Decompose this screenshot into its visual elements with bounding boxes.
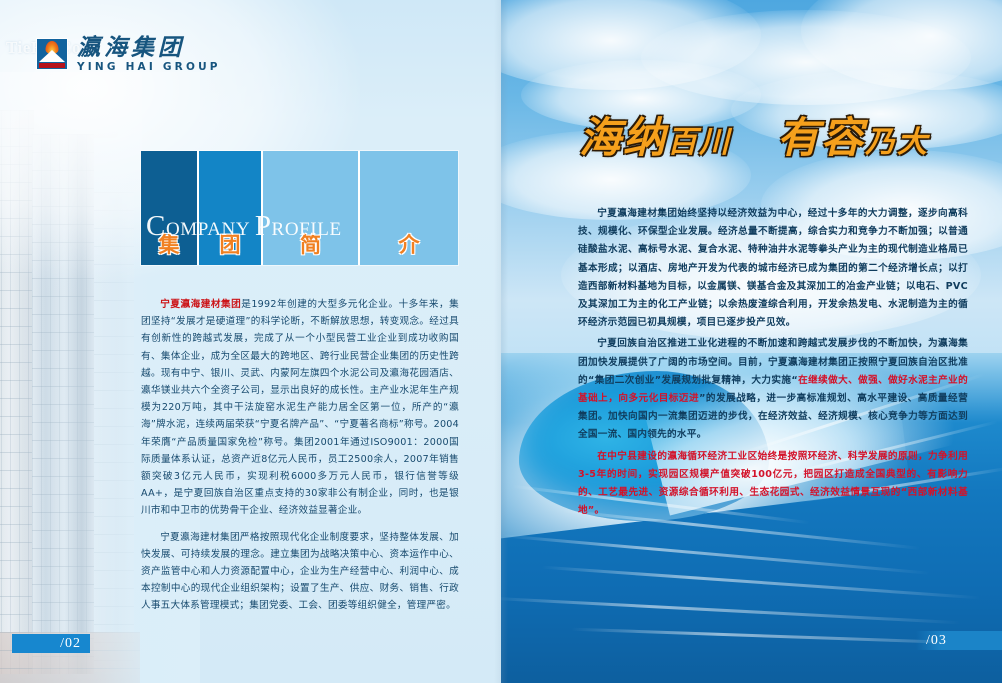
headline-part1-small: 百川 xyxy=(667,117,731,161)
banner-cell-3-label: 简 xyxy=(300,229,321,259)
right-paragraph-1-text: 宁夏瀛海建材集团始终坚持以经济效益为中心，经过十多年的大力调整，逐步向高科技、规… xyxy=(578,208,968,328)
brand-name-en: YING HAI GROUP xyxy=(77,62,221,73)
left-paragraph-1-text: 是1992年创建的大型多元化企业。十多年来，集团坚持“发展才是硬道理”的科学论断… xyxy=(141,299,459,516)
banner-cell-3: 简 xyxy=(263,151,360,265)
left-paragraph-1: 宁夏瀛海建材集团是1992年创建的大型多元化企业。十多年来，集团坚持“发展才是硬… xyxy=(141,296,459,520)
building-mullions xyxy=(0,110,34,674)
right-paragraph-2: 宁夏回族自治区推进工业化进程的不断加速和跨越式发展步伐的不断加快，为瀛海集团加快… xyxy=(578,335,968,444)
building-mullions xyxy=(32,134,94,674)
right-paragraph-3-text: 在中宁县建设的瀛海循环经济工业区始终是按照环经济、科学发展的原则，力争利用3-5… xyxy=(578,451,968,517)
building-main-tower xyxy=(32,134,94,674)
brand-logo: 瀛海集团 YING HAI GROUP xyxy=(36,36,221,73)
company-profile-banner: 集 团 简 介 xyxy=(141,151,458,265)
right-paragraph-1: 宁夏瀛海建材集团始终坚持以经济效益为中心，经过十多年的大力调整，逐步向高科技、规… xyxy=(578,205,968,332)
wave-streak xyxy=(502,534,931,574)
company-name-highlight: 宁夏瀛海建材集团 xyxy=(160,299,241,310)
banner-cell-4: 介 xyxy=(360,151,458,265)
building-right-wing xyxy=(94,192,134,672)
wave-streak xyxy=(541,566,980,600)
headline-part2-small: 乃大 xyxy=(865,117,929,161)
page-headline: 海纳 百川 有容 乃大 xyxy=(579,104,929,165)
brochure-spread: TieHu.Com 瀛海集团 YING HAI GROUP 集 团 xyxy=(0,0,1002,683)
banner-cell-4-label: 介 xyxy=(399,229,420,259)
building-floor-lines xyxy=(94,192,134,672)
left-paragraph-2: 宁夏瀛海建材集团严格按照现代化企业制度要求，坚持整体发展、加快发展、可持续发展的… xyxy=(141,529,459,615)
right-page-number: /03 xyxy=(916,631,1002,650)
brand-wordmark: 瀛海集团 YING HAI GROUP xyxy=(77,36,221,73)
office-building-photo xyxy=(0,72,142,683)
wave-streak xyxy=(501,597,961,625)
mountain-icon xyxy=(39,50,65,62)
banner-cell-1-label: 集 xyxy=(159,229,180,259)
right-page: 海纳 百川 有容 乃大 宁夏瀛海建材集团始终坚持以经济效益为中心，经过十多年的大… xyxy=(501,0,1002,683)
cloud-icon xyxy=(641,10,971,105)
right-paragraph-3: 在中宁县建设的瀛海循环经济工业区始终是按照环经济、科学发展的原则，力争利用3-5… xyxy=(578,448,968,521)
headline-part2-big: 有容 xyxy=(777,104,865,165)
banner-cell-1: 集 xyxy=(141,151,199,265)
logo-red-bar xyxy=(39,63,65,68)
building-left-wing xyxy=(0,110,34,674)
left-page-number: /02 xyxy=(12,634,90,653)
left-page-body: 宁夏瀛海建材集团是1992年创建的大型多元化企业。十多年来，集团坚持“发展才是硬… xyxy=(141,296,459,624)
headline-part1-big: 海纳 xyxy=(579,104,667,165)
banner-cell-2-label: 团 xyxy=(220,229,241,259)
right-page-body: 宁夏瀛海建材集团始终坚持以经济效益为中心，经过十多年的大力调整，逐步向高科技、规… xyxy=(578,205,968,523)
left-paragraph-2-text: 宁夏瀛海建材集团严格按照现代化企业制度要求，坚持整体发展、加快发展、可持续发展的… xyxy=(141,532,459,612)
left-page: TieHu.Com 瀛海集团 YING HAI GROUP 集 团 xyxy=(0,0,501,683)
logo-icon-field xyxy=(37,39,67,69)
banner-cell-2: 团 xyxy=(199,151,263,265)
cloud-icon xyxy=(501,0,761,90)
yinghai-logo-icon xyxy=(36,38,68,70)
cloud-icon xyxy=(801,0,1002,90)
brand-name-cn: 瀛海集团 xyxy=(77,36,221,59)
